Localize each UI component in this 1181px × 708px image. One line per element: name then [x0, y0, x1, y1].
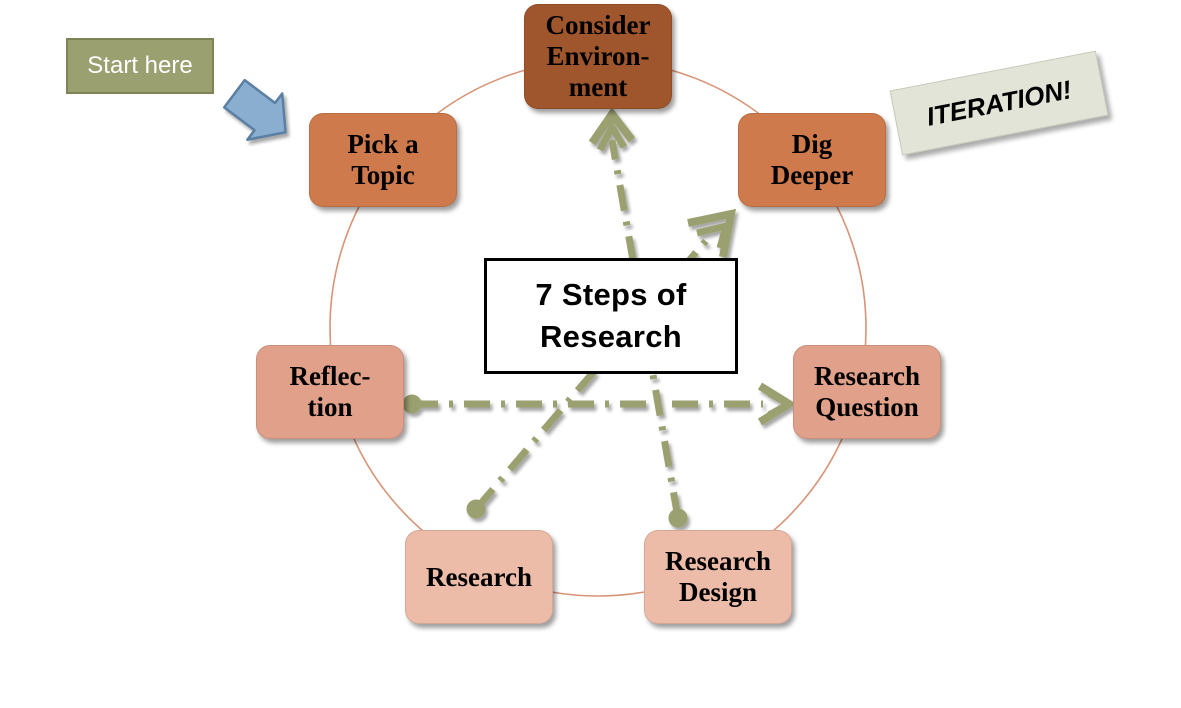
step-node-reflection[interactable]: Reflec- tion	[256, 345, 404, 439]
step-node-dig-deeper[interactable]: Dig Deeper	[738, 113, 886, 207]
step-node-research-design[interactable]: Research Design	[644, 530, 792, 624]
step-label-pick-a-topic: Pick a Topic	[341, 129, 424, 191]
arrow-reflection-to-research-question	[403, 386, 789, 422]
step-label-dig-deeper: Dig Deeper	[765, 129, 859, 191]
start-here-blue-arrow	[217, 71, 303, 156]
step-node-research[interactable]: Research	[405, 530, 553, 624]
step-label-research-design: Research Design	[659, 546, 777, 608]
step-node-research-question[interactable]: Research Question	[793, 345, 941, 439]
center-title-line-1: 7 Steps of	[535, 277, 686, 312]
center-title-line-2: Research	[540, 319, 682, 354]
start-here-callout: Start here	[66, 38, 214, 94]
step-node-consider-environment[interactable]: Consider Environ- ment	[524, 4, 672, 109]
center-title-text: 7 Steps of Research	[535, 274, 686, 358]
step-label-research: Research	[420, 562, 538, 593]
start-here-label: Start here	[87, 52, 192, 80]
iteration-label: ITERATION!	[924, 74, 1074, 132]
step-node-pick-a-topic[interactable]: Pick a Topic	[309, 113, 457, 207]
step-label-reflection: Reflec- tion	[284, 361, 377, 423]
step-label-consider-environment: Consider Environ- ment	[539, 10, 656, 102]
center-title-box: 7 Steps of Research	[484, 258, 738, 374]
step-label-research-question: Research Question	[808, 361, 926, 423]
